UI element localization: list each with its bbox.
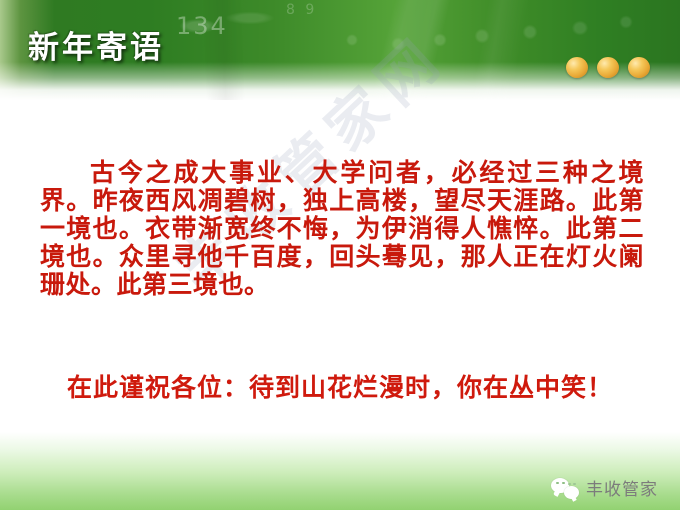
brand-lockup: 丰收管家	[551, 475, 658, 500]
closing-line: 在此谨祝各位：待到山花烂漫时，你在丛中笑！	[40, 374, 640, 404]
footer-band: 丰收管家	[0, 432, 680, 510]
decor-dot-2	[597, 57, 619, 78]
chalk-digits-text: 134	[176, 12, 228, 40]
page-title: 新年寄语	[28, 22, 164, 67]
slide-root: 134 8 9 新年寄语 丰收管家网 古今之成大事业、大学问者，必经过三种之境界…	[0, 0, 680, 510]
decor-dot-3	[628, 57, 650, 78]
body-paragraph: 古今之成大事业、大学问者，必经过三种之境界。昨夜西风凋碧树，独上高楼，望尽天涯路…	[40, 160, 644, 300]
brand-name-label: 丰收管家	[586, 475, 658, 500]
wechat-icon	[551, 477, 579, 499]
chalk-digits-secondary-text: 8 9	[286, 2, 317, 18]
header-banner: 134 8 9 新年寄语	[0, 0, 680, 100]
decor-dot-group	[566, 57, 650, 78]
decor-dot-1	[566, 57, 588, 78]
